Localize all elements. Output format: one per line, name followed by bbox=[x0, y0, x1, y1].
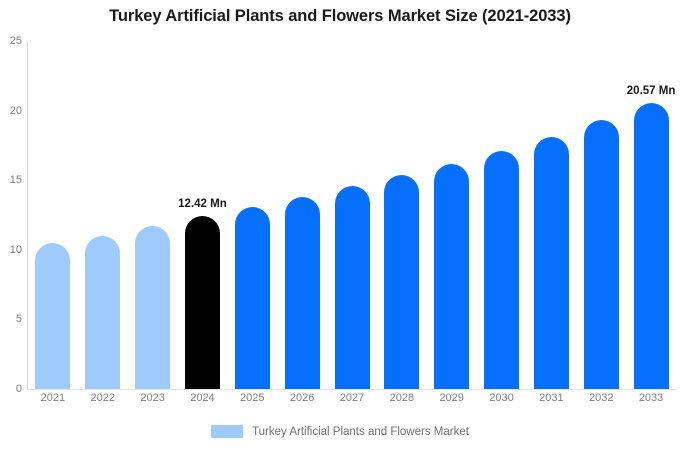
bar-rect[interactable] bbox=[584, 120, 619, 389]
x-axis-label-2030: 2030 bbox=[477, 392, 527, 404]
chart-legend: Turkey Artificial Plants and Flowers Mar… bbox=[0, 425, 680, 438]
x-axis-label-2024: 2024 bbox=[178, 392, 228, 404]
bar-2030[interactable] bbox=[484, 151, 519, 389]
bar-rect[interactable] bbox=[135, 226, 170, 389]
bar-2026[interactable] bbox=[285, 197, 320, 389]
bar-rect[interactable] bbox=[634, 103, 669, 389]
x-axis-label-2029: 2029 bbox=[427, 392, 477, 404]
bar-2029[interactable] bbox=[434, 164, 469, 390]
bar-value-label: 20.57 Mn bbox=[627, 85, 676, 97]
bar-2022[interactable] bbox=[85, 236, 120, 389]
bar-rect[interactable] bbox=[434, 164, 469, 390]
chart-title: Turkey Artificial Plants and Flowers Mar… bbox=[0, 7, 680, 26]
x-axis-label-2027: 2027 bbox=[327, 392, 377, 404]
bar-2025[interactable] bbox=[235, 207, 270, 389]
y-axis-tick-20: 20 bbox=[0, 105, 22, 117]
plot-area: 12.42 Mn20.57 Mn bbox=[28, 41, 676, 389]
bar-rect[interactable] bbox=[384, 175, 419, 389]
y-axis-tick-5: 5 bbox=[0, 313, 22, 325]
x-axis-label-2021: 2021 bbox=[28, 392, 78, 404]
bar-value-label: 12.42 Mn bbox=[178, 198, 227, 210]
y-axis-tick-10: 10 bbox=[0, 244, 22, 256]
bar-2028[interactable] bbox=[384, 175, 419, 389]
bar-2027[interactable] bbox=[335, 186, 370, 389]
bar-rect[interactable] bbox=[185, 216, 220, 389]
bar-2024[interactable]: 12.42 Mn bbox=[185, 216, 220, 389]
bar-rect[interactable] bbox=[484, 151, 519, 389]
x-axis-label-2025: 2025 bbox=[227, 392, 277, 404]
bar-rect[interactable] bbox=[285, 197, 320, 389]
bar-2033[interactable]: 20.57 Mn bbox=[634, 103, 669, 389]
legend-label: Turkey Artificial Plants and Flowers Mar… bbox=[252, 426, 469, 438]
legend-swatch bbox=[211, 425, 243, 438]
chart-container: Turkey Artificial Plants and Flowers Mar… bbox=[0, 0, 680, 450]
bar-2023[interactable] bbox=[135, 226, 170, 389]
bars-layer: 12.42 Mn20.57 Mn bbox=[28, 41, 676, 389]
bar-rect[interactable] bbox=[534, 137, 569, 389]
y-axis-tick-25: 25 bbox=[0, 35, 22, 47]
x-axis-label-2032: 2032 bbox=[576, 392, 626, 404]
bar-2021[interactable] bbox=[35, 243, 70, 389]
bar-2031[interactable] bbox=[534, 137, 569, 389]
bar-rect[interactable] bbox=[85, 236, 120, 389]
bar-rect[interactable] bbox=[35, 243, 70, 389]
bar-rect[interactable] bbox=[235, 207, 270, 389]
y-axis-tick-15: 15 bbox=[0, 174, 22, 186]
x-axis-label-2023: 2023 bbox=[128, 392, 178, 404]
x-axis-line bbox=[27, 389, 676, 390]
bar-rect[interactable] bbox=[335, 186, 370, 389]
y-axis-tick-0: 0 bbox=[0, 383, 22, 395]
bar-2032[interactable] bbox=[584, 120, 619, 389]
x-axis-label-2026: 2026 bbox=[277, 392, 327, 404]
x-axis-label-2031: 2031 bbox=[526, 392, 576, 404]
x-axis-label-2028: 2028 bbox=[377, 392, 427, 404]
x-axis-label-2022: 2022 bbox=[78, 392, 128, 404]
x-axis-label-2033: 2033 bbox=[626, 392, 676, 404]
